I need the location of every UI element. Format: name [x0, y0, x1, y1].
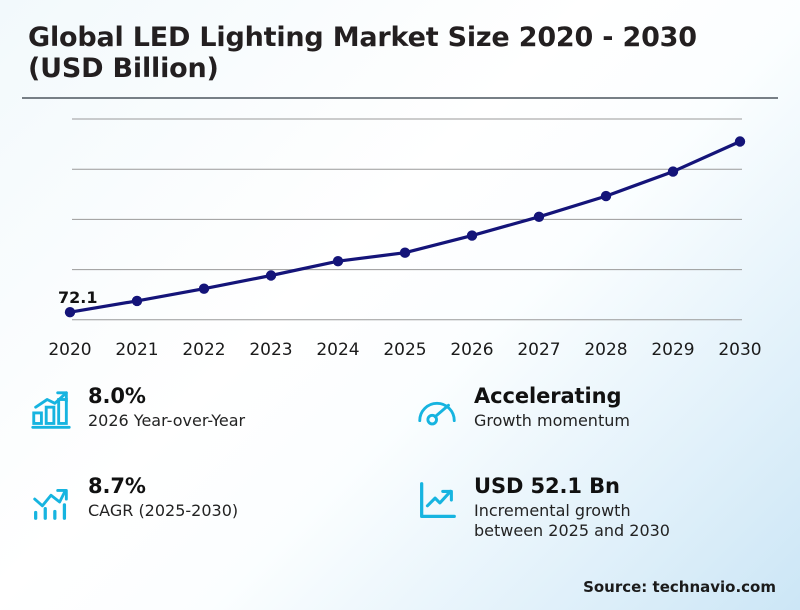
- source-attribution: Source: technavio.com: [583, 578, 776, 596]
- stat-value: Accelerating: [474, 384, 630, 409]
- title-line-1: Global LED Lighting Market Size 2020 - 2…: [28, 22, 697, 53]
- infographic-page: Global LED Lighting Market Size 2020 - 2…: [0, 0, 800, 610]
- x-axis-tick-label: 2022: [174, 340, 234, 360]
- x-axis-tick-label: 2020: [40, 340, 100, 360]
- stat-caption-line-1: Growth momentum: [474, 411, 630, 430]
- x-axis-tick-label: 2028: [576, 340, 636, 360]
- stats-grid: 8.0% 2026 Year-over-Year Accelerating Gr…: [28, 384, 776, 540]
- x-axis-tick-label: 2021: [107, 340, 167, 360]
- title-line-2: (USD Billion): [28, 53, 219, 84]
- chart-data-point: [266, 270, 276, 280]
- chart-data-point: [668, 166, 678, 176]
- trending-up-bars-icon: [28, 478, 74, 524]
- chart-data-point: [132, 296, 142, 306]
- line-chart: [0, 100, 800, 365]
- stat-card-cagr: 8.7% CAGR (2025-2030): [28, 474, 390, 540]
- chart-data-point: [333, 256, 343, 266]
- x-axis-tick-label: 2023: [241, 340, 301, 360]
- chart-data-point: [199, 284, 209, 294]
- stat-caption-line-2: between 2025 and 2030: [474, 521, 670, 541]
- x-axis-tick-label: 2029: [643, 340, 703, 360]
- page-title: Global LED Lighting Market Size 2020 - 2…: [28, 22, 773, 85]
- x-axis-tick-label: 2025: [375, 340, 435, 360]
- stat-card-momentum: Accelerating Growth momentum: [414, 384, 776, 468]
- x-axis-tick-label: 2026: [442, 340, 502, 360]
- stat-value: USD 52.1 Bn: [474, 474, 670, 499]
- bar-chart-growth-icon: [28, 388, 74, 434]
- stat-value: 8.7%: [88, 474, 238, 499]
- stat-caption-line-1: Incremental growth: [474, 501, 631, 520]
- stat-caption: CAGR (2025-2030): [88, 501, 238, 521]
- x-axis-tick-label: 2024: [308, 340, 368, 360]
- chart-data-point: [467, 230, 477, 240]
- stat-caption-line-1: CAGR (2025-2030): [88, 501, 238, 520]
- chart-data-point: [601, 191, 611, 201]
- x-axis-tick-label: 2027: [509, 340, 569, 360]
- stat-caption: Growth momentum: [474, 411, 630, 431]
- chart-markers: [65, 136, 745, 317]
- chart-data-point: [735, 136, 745, 146]
- stat-card-yoy: 8.0% 2026 Year-over-Year: [28, 384, 390, 468]
- chart-data-point: [400, 248, 410, 258]
- x-axis-tick-label: 2030: [710, 340, 770, 360]
- stat-caption: Incremental growth between 2025 and 2030: [474, 501, 670, 540]
- gauge-accelerating-icon: [414, 388, 460, 434]
- stat-card-incremental: USD 52.1 Bn Incremental growth between 2…: [414, 474, 776, 540]
- stat-value: 8.0%: [88, 384, 245, 409]
- chart-gridlines: [72, 119, 742, 320]
- chart-data-point: [65, 307, 75, 317]
- line-chart-axes-icon: [414, 478, 460, 524]
- chart-x-axis-labels: 2020202120222023202420252026202720282029…: [0, 340, 800, 368]
- chart-point-value-label: 72.1: [58, 288, 97, 307]
- stat-caption-line-1: 2026 Year-over-Year: [88, 411, 245, 430]
- stat-caption: 2026 Year-over-Year: [88, 411, 245, 431]
- chart-data-point: [534, 212, 544, 222]
- title-divider: [22, 97, 778, 99]
- chart-series-line: [70, 142, 740, 313]
